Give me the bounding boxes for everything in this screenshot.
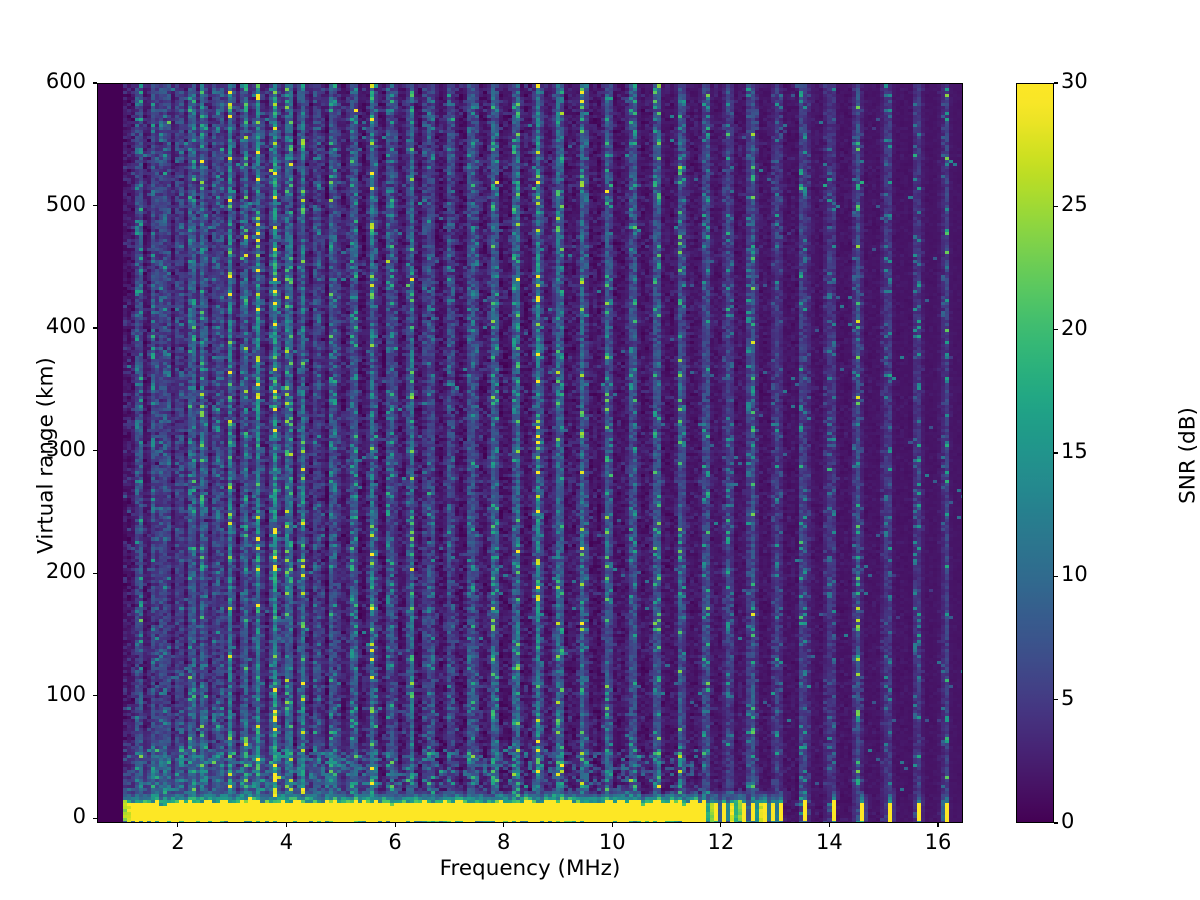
ionogram-plot-area[interactable] [97,83,963,823]
y-tick-mark [93,205,97,206]
x-tick-label: 12 [686,830,756,854]
y-tick-mark [93,82,97,83]
x-tick-label: 14 [794,830,864,854]
x-tick-label: 16 [903,830,973,854]
x-tick-label: 10 [577,830,647,854]
x-tick-mark [395,823,396,827]
colorbar-tick-label: 15 [1061,439,1088,463]
colorbar-tick-mark [1054,329,1058,330]
ionogram-figure: IRF Uppsala SDR Ionosonde UP158 2026-03-… [0,0,1200,900]
colorbar-tick-mark [1054,452,1058,453]
colorbar-label: SNR (dB) [1176,196,1200,716]
x-tick-mark [503,823,504,827]
colorbar-tick-mark [1054,206,1058,207]
x-tick-mark [286,823,287,827]
colorbar-tick-label: 25 [1061,192,1088,216]
x-tick-mark [177,823,178,827]
colorbar-tick-label: 0 [1061,809,1074,833]
x-tick-label: 2 [143,830,213,854]
y-tick-mark [93,450,97,451]
y-axis-label: Virtual range (km) [34,196,59,716]
x-tick-mark [612,823,613,827]
y-tick-label: 600 [0,69,86,93]
x-tick-mark [720,823,721,827]
colorbar-tick-mark [1054,822,1058,823]
colorbar [1016,83,1054,823]
colorbar-tick-label: 5 [1061,686,1074,710]
y-tick-mark [93,327,97,328]
x-tick-mark [937,823,938,827]
y-tick-mark [93,573,97,574]
ionogram-heatmap [98,84,963,823]
y-tick-mark [93,818,97,819]
colorbar-tick-mark [1054,82,1058,83]
colorbar-gradient [1017,84,1053,822]
colorbar-tick-label: 20 [1061,316,1088,340]
x-tick-label: 6 [360,830,430,854]
colorbar-tick-mark [1054,699,1058,700]
x-tick-label: 4 [251,830,321,854]
colorbar-tick-label: 30 [1061,69,1088,93]
y-tick-mark [93,695,97,696]
y-tick-label: 0 [0,804,86,828]
x-axis-label: Frequency (MHz) [97,856,963,881]
x-tick-mark [829,823,830,827]
colorbar-tick-label: 10 [1061,562,1088,586]
x-tick-label: 8 [469,830,539,854]
colorbar-tick-mark [1054,576,1058,577]
